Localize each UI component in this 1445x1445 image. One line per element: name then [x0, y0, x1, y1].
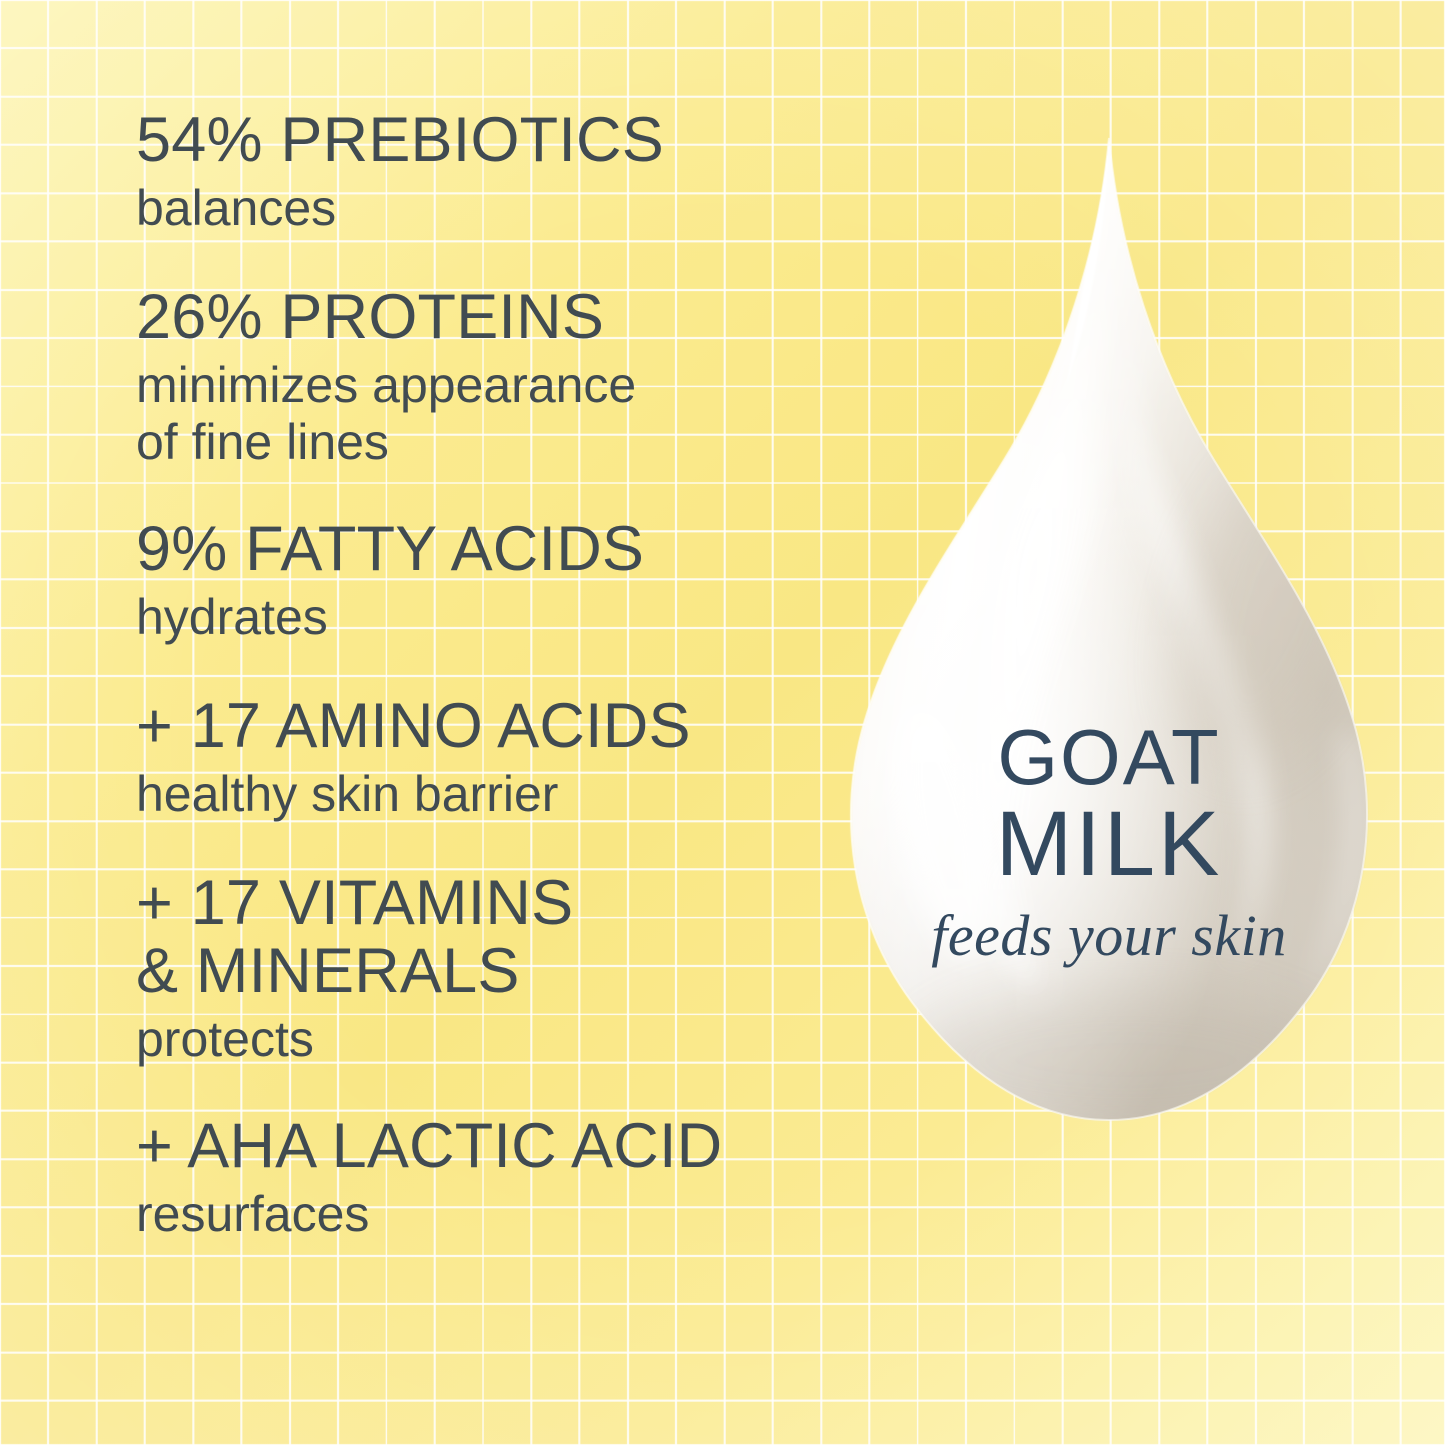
- fact-item: + 17 AMINO ACIDS healthy skin barrier: [136, 692, 836, 823]
- ingredient-fact-list: 54% PREBIOTICS balances 26% PROTEINS min…: [136, 106, 836, 1243]
- fact-title: 9% FATTY ACIDS: [136, 515, 836, 583]
- fact-item: + 17 VITAMINS & MINERALS protects: [136, 869, 836, 1068]
- fact-subtitle: balances: [136, 180, 836, 237]
- fact-subtitle: hydrates: [136, 589, 836, 646]
- fact-item: + AHA LACTIC ACID resurfaces: [136, 1112, 836, 1243]
- fact-title: 26% PROTEINS: [136, 283, 836, 351]
- fact-item: 9% FATTY ACIDS hydrates: [136, 515, 836, 646]
- fact-title: + 17 AMINO ACIDS: [136, 692, 836, 760]
- fact-item: 54% PREBIOTICS balances: [136, 106, 836, 237]
- fact-subtitle: healthy skin barrier: [136, 766, 836, 823]
- droplet-icon: [826, 130, 1392, 1150]
- fact-title: + AHA LACTIC ACID: [136, 1112, 836, 1180]
- milk-droplet: GOAT MILK feeds your skin: [826, 130, 1392, 1150]
- fact-item: 26% PROTEINS minimizes appearance of fin…: [136, 283, 836, 471]
- fact-title: 54% PREBIOTICS: [136, 106, 836, 174]
- fact-title: + 17 VITAMINS & MINERALS: [136, 869, 836, 1005]
- infographic-canvas: 54% PREBIOTICS balances 26% PROTEINS min…: [0, 0, 1445, 1445]
- fact-subtitle: minimizes appearance of fine lines: [136, 357, 836, 471]
- fact-subtitle: resurfaces: [136, 1186, 836, 1243]
- fact-subtitle: protects: [136, 1011, 836, 1068]
